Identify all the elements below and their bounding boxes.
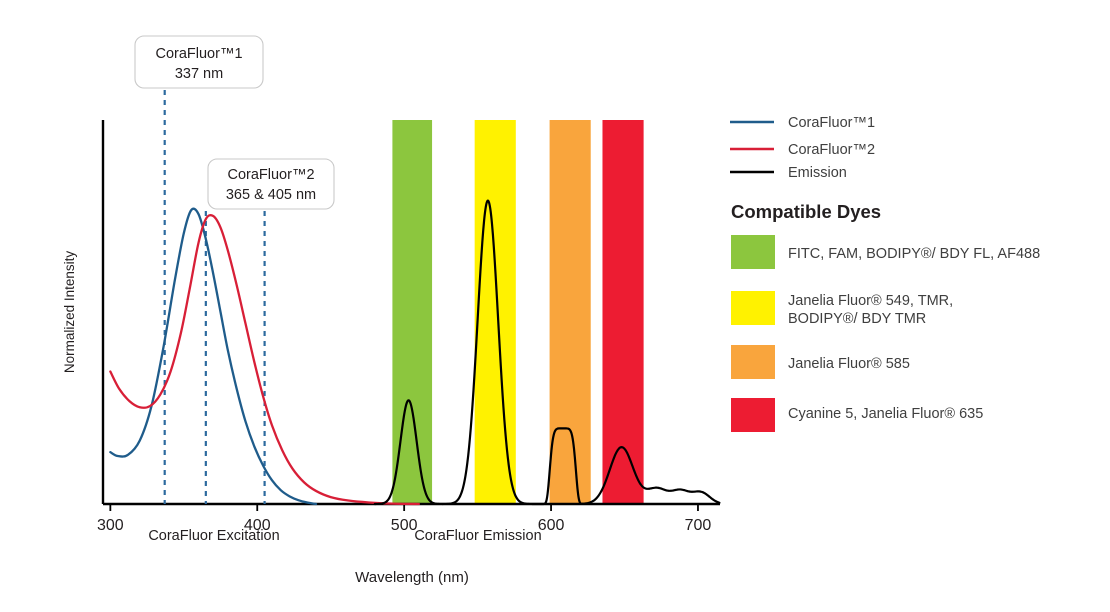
emission-band-0 xyxy=(392,120,432,504)
legend-label-emission: Emission xyxy=(788,165,847,181)
x-tick-label-700: 700 xyxy=(685,517,712,534)
callout-corafluor2-line2: 365 & 405 nm xyxy=(226,187,316,203)
dye-label-green: FITC, FAM, BODIPY®/ BDY FL, AF488 xyxy=(788,246,1040,262)
dye-legend-item-cyanine5[interactable]: Cyanine 5, Janelia Fluor® 635 xyxy=(731,398,983,432)
dye-label-red: Cyanine 5, Janelia Fluor® 635 xyxy=(788,406,983,422)
x-tick-label-600: 600 xyxy=(538,517,565,534)
dye-label-orange: Janelia Fluor® 585 xyxy=(788,356,910,372)
legend-label-corafluor1: CoraFluor™1 xyxy=(788,115,875,131)
curve-corafluor2 xyxy=(110,215,419,504)
callout-corafluor1-line1: CoraFluor™1 xyxy=(155,46,242,62)
legend-label-corafluor2: CoraFluor™2 xyxy=(788,142,875,158)
dye-swatch-red xyxy=(731,398,775,432)
excitation-range-caption: CoraFluor Excitation xyxy=(148,528,279,544)
emission-band-group xyxy=(392,120,643,504)
curve-corafluor1 xyxy=(110,209,316,504)
dye-legend-item-janelia549[interactable]: Janelia Fluor® 549, TMR, BODIPY®/ BDY TM… xyxy=(731,291,953,327)
callout-corafluor1[interactable]: CoraFluor™1 337 nm xyxy=(135,36,263,88)
callout-corafluor2[interactable]: CoraFluor™2 365 & 405 nm xyxy=(208,159,334,209)
dye-label-yellow-line2: BODIPY®/ BDY TMR xyxy=(788,311,926,327)
excitation-guide-lines xyxy=(165,90,265,504)
emission-band-2 xyxy=(550,120,591,504)
y-axis-label: Normalized Intensity xyxy=(62,251,77,374)
spectra-figure: 300400500600700 Normalized Intensity Cor… xyxy=(0,0,1110,612)
dye-swatch-orange xyxy=(731,345,775,379)
callout-corafluor1-line2: 337 nm xyxy=(175,66,223,82)
series-legend: CoraFluor™1 CoraFluor™2 Emission xyxy=(730,115,875,181)
dye-legend-item-janelia585[interactable]: Janelia Fluor® 585 xyxy=(731,345,910,379)
emission-range-caption: CoraFluor Emission xyxy=(414,528,541,544)
emission-band-1 xyxy=(475,120,516,504)
compatible-dyes-heading: Compatible Dyes xyxy=(731,201,881,222)
dye-swatch-yellow xyxy=(731,291,775,325)
dye-label-yellow-line1: Janelia Fluor® 549, TMR, xyxy=(788,293,953,309)
callout-corafluor2-line1: CoraFluor™2 xyxy=(227,167,314,183)
dye-swatch-green xyxy=(731,235,775,269)
x-tick-label-300: 300 xyxy=(97,517,124,534)
dye-legend-item-fitc[interactable]: FITC, FAM, BODIPY®/ BDY FL, AF488 xyxy=(731,235,1040,269)
x-axis-label: Wavelength (nm) xyxy=(355,569,469,586)
